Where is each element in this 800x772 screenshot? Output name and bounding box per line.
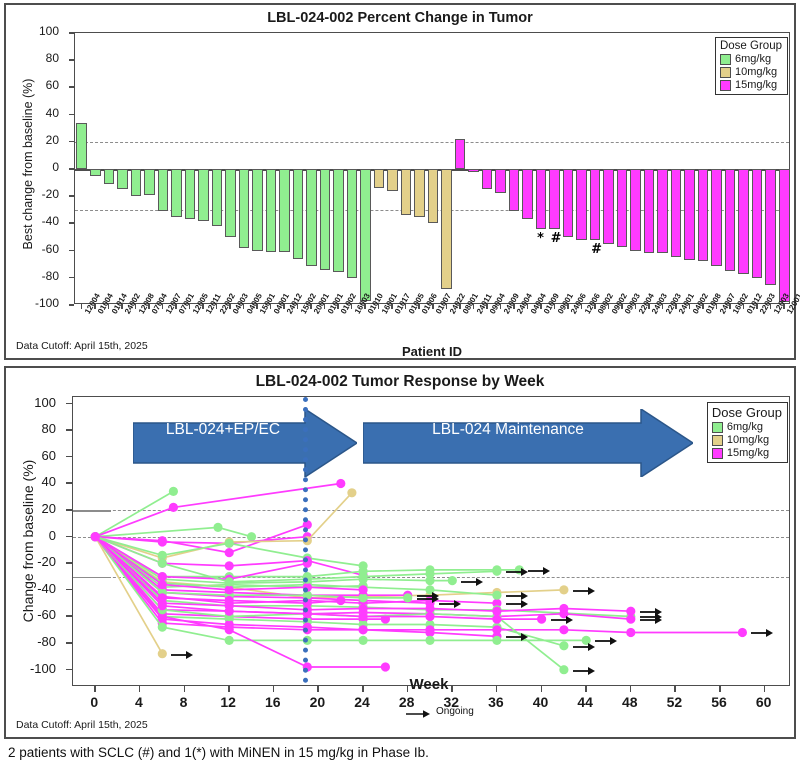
waterfall-bar (266, 169, 277, 252)
waterfall-bar (563, 169, 574, 237)
ongoing-arrow-icon (506, 630, 528, 648)
annotation-symbol-#: # (551, 231, 562, 246)
y-tick-mark (69, 32, 74, 34)
ongoing-arrow-icon (417, 592, 439, 610)
x-tick-mark (702, 304, 704, 309)
data-point-marker (158, 623, 167, 632)
annotation-symbol-*: * (537, 231, 544, 246)
waterfall-bar (293, 169, 304, 259)
y-tick-label: -100 (35, 296, 59, 310)
data-point-marker (359, 636, 368, 645)
waterfall-data-cutoff: Data Cutoff: April 15th, 2025 (16, 340, 148, 352)
ongoing-arrow-icon (506, 589, 528, 607)
waterfall-bar (347, 169, 358, 278)
waterfall-bar (549, 169, 560, 229)
data-point-marker (626, 615, 635, 624)
data-point-marker (492, 615, 501, 624)
reference-line-20 (75, 142, 789, 143)
waterfall-bar (252, 169, 263, 251)
data-point-marker (225, 636, 234, 645)
x-tick-label: 60 (748, 694, 780, 710)
x-tick-mark (310, 304, 312, 309)
legend-item-label: 15mg/kg (735, 79, 777, 91)
data-point-marker (559, 585, 568, 594)
legend-swatch-icon (712, 435, 723, 446)
y-tick-mark (69, 277, 74, 279)
data-point-marker (158, 559, 167, 568)
waterfall-bar (576, 169, 587, 240)
data-point-marker (158, 649, 167, 658)
x-tick-mark (743, 304, 745, 309)
waterfall-bar (603, 169, 614, 244)
waterfall-bar (725, 169, 736, 271)
spaghetti-x-axis-label-outer: Week (70, 676, 788, 693)
legend-swatch-icon (712, 448, 723, 459)
data-point-marker (403, 593, 412, 602)
waterfall-bar (185, 169, 196, 219)
data-point-marker (336, 479, 345, 488)
x-tick-mark (81, 304, 83, 309)
ongoing-arrow-icon (751, 626, 773, 644)
x-tick-mark (378, 304, 380, 309)
waterfall-bar (779, 169, 790, 302)
data-point-marker (225, 561, 234, 570)
y-tick-mark (69, 195, 74, 197)
y-tick-label: -40 (37, 581, 56, 596)
x-tick-mark (135, 304, 137, 309)
legend-items: 6mg/kg10mg/kg15mg/kg (720, 53, 782, 91)
waterfall-bar (738, 169, 749, 274)
x-tick-mark (554, 304, 556, 309)
x-tick-label: 56 (703, 694, 735, 710)
y-tick-mark (66, 456, 72, 458)
waterfall-bar (76, 123, 87, 169)
x-tick-label: 8 (168, 694, 200, 710)
x-tick-mark (405, 304, 407, 309)
x-tick-mark (256, 304, 258, 309)
waterfall-bar (212, 169, 223, 226)
y-tick-mark (69, 141, 74, 143)
ongoing-arrow-icon (506, 565, 528, 583)
waterfall-bar (198, 169, 209, 221)
y-tick-label: -80 (37, 634, 56, 649)
legend-swatch-icon (720, 67, 731, 78)
x-tick-mark (594, 304, 596, 309)
waterfall-bar (158, 169, 169, 211)
waterfall-bar (90, 169, 101, 176)
waterfall-bar (455, 139, 466, 169)
legend-swatch-icon (712, 422, 723, 433)
data-point-marker (225, 596, 234, 605)
y-tick-mark (69, 250, 74, 252)
legend-items: 6mg/kg10mg/kg15mg/kg (712, 421, 782, 459)
waterfall-bar (374, 169, 385, 188)
x-tick-mark (446, 304, 448, 309)
waterfall-bar (765, 169, 776, 285)
annotation-symbol-#: # (591, 242, 602, 257)
legend-item-label: 10mg/kg (735, 66, 777, 78)
y-tick-label: -80 (42, 269, 59, 283)
x-tick-mark (567, 304, 569, 309)
ongoing-arrow-icon (573, 640, 595, 658)
ongoing-arrow-icon (551, 613, 573, 631)
phase-arrow-maintenance (363, 409, 693, 477)
x-tick-mark (283, 304, 285, 309)
x-tick-mark (121, 304, 123, 309)
waterfall-bar (306, 169, 317, 266)
x-tick-mark (162, 304, 164, 309)
legend-item-label: 10mg/kg (727, 434, 769, 446)
patient-trend-line (95, 491, 173, 536)
x-tick-mark (770, 304, 772, 309)
data-point-marker (169, 503, 178, 512)
x-tick-mark (175, 304, 177, 309)
waterfall-bar (104, 169, 115, 184)
waterfall-bar (401, 169, 412, 215)
y-tick-label: 100 (34, 395, 56, 410)
x-tick-mark (729, 304, 731, 309)
data-point-marker (559, 665, 568, 674)
data-point-marker (225, 625, 234, 634)
data-point-marker (359, 612, 368, 621)
data-point-marker (158, 551, 167, 560)
ongoing-arrow-icon (528, 564, 550, 582)
legend-item-6mg/kg: 6mg/kg (720, 53, 782, 65)
data-point-marker (492, 567, 501, 576)
y-tick-label: -60 (37, 607, 56, 622)
x-tick-label: 36 (480, 694, 512, 710)
ongoing-arrow-icon (461, 575, 483, 593)
x-tick-mark (324, 304, 326, 309)
x-tick-mark (243, 304, 245, 309)
data-point-marker (359, 572, 368, 581)
y-tick-mark (69, 86, 74, 88)
waterfall-bar (644, 169, 655, 253)
ongoing-legend-arrow-icon (406, 707, 430, 725)
data-point-marker (448, 576, 457, 585)
y-tick-label: 60 (42, 448, 56, 463)
y-tick-label: 60 (46, 78, 59, 92)
waterfall-bar (482, 169, 493, 189)
legend-item-label: 15mg/kg (727, 447, 769, 459)
x-tick-mark (391, 304, 393, 309)
waterfall-bar (630, 169, 641, 251)
x-tick-mark (94, 304, 96, 309)
y-tick-label: -40 (42, 214, 59, 228)
y-tick-mark (66, 509, 72, 511)
x-tick-mark (418, 304, 420, 309)
x-tick-mark (270, 304, 272, 309)
x-tick-mark (202, 304, 204, 309)
phase-arrow-induction-label: LBL-024+EP/EC (133, 421, 313, 439)
waterfall-plot-area: *## (74, 32, 790, 304)
data-point-marker (738, 628, 747, 637)
x-tick-mark (189, 304, 191, 309)
x-tick-label: 0 (78, 694, 110, 710)
y-tick-label: 40 (42, 474, 56, 489)
y-tick-mark (69, 168, 74, 170)
phase-divider-line (303, 397, 308, 683)
data-point-marker (537, 615, 546, 624)
x-tick-mark (648, 304, 650, 309)
waterfall-x-axis-label: Patient ID (74, 344, 790, 359)
x-tick-mark (216, 304, 218, 309)
legend-item-10mg/kg: 10mg/kg (720, 66, 782, 78)
waterfall-bar (144, 169, 155, 195)
x-tick-mark (783, 304, 785, 309)
data-point-marker (381, 662, 390, 671)
legend-item-15mg/kg: 15mg/kg (720, 79, 782, 91)
data-point-marker (225, 577, 234, 586)
waterfall-bar (239, 169, 250, 248)
waterfall-bar (536, 169, 547, 229)
y-tick-mark (69, 59, 74, 61)
legend-swatch-icon (720, 80, 731, 91)
waterfall-bar (414, 169, 425, 217)
data-point-marker (559, 641, 568, 650)
waterfall-bar (441, 169, 452, 289)
spaghetti-y-axis-label: Change from baseline (%) (20, 441, 36, 641)
data-point-marker (158, 536, 167, 545)
phase-arrow-induction (133, 409, 357, 477)
x-tick-mark (689, 304, 691, 309)
legend-title: Dose Group (720, 40, 782, 52)
waterfall-bar (131, 169, 142, 196)
y-tick-mark (66, 536, 72, 538)
waterfall-bar (752, 169, 763, 278)
waterfall-bar (657, 169, 668, 253)
x-tick-mark (581, 304, 583, 309)
waterfall-bar (225, 169, 236, 237)
data-point-marker (425, 636, 434, 645)
ongoing-arrow-icon (439, 597, 461, 615)
y-tick-label: 0 (52, 160, 59, 174)
waterfall-bar (171, 169, 182, 217)
footnote-text: 2 patients with SCLC (#) and 1(*) with M… (8, 745, 429, 760)
x-tick-label: 20 (301, 694, 333, 710)
x-tick-mark (459, 304, 461, 309)
phase-arrow-maintenance-label: LBL-024 Maintenance (373, 421, 643, 439)
y-tick-mark (66, 403, 72, 405)
y-tick-label: -60 (42, 242, 59, 256)
x-tick-mark (108, 304, 110, 309)
waterfall-bar (590, 169, 601, 240)
data-point-marker (492, 636, 501, 645)
legend-item-label: 6mg/kg (735, 53, 771, 65)
data-point-marker (492, 607, 501, 616)
waterfall-bar (617, 169, 628, 247)
x-tick-mark (635, 304, 637, 309)
data-point-marker (158, 601, 167, 610)
y-tick-mark (66, 562, 72, 564)
x-tick-label: 48 (614, 694, 646, 710)
data-point-marker (425, 569, 434, 578)
waterfall-bar (387, 169, 398, 191)
x-tick-mark (716, 304, 718, 309)
waterfall-bar (698, 169, 709, 261)
data-point-marker (225, 585, 234, 594)
x-tick-mark (473, 304, 475, 309)
y-tick-mark (66, 642, 72, 644)
x-tick-mark (621, 304, 623, 309)
data-point-marker (359, 604, 368, 613)
data-point-marker (213, 523, 222, 532)
x-tick-mark (364, 304, 366, 309)
ongoing-arrow-icon (171, 648, 193, 666)
ongoing-arrow-icon (595, 634, 617, 652)
waterfall-bar (333, 169, 344, 272)
ongoing-arrow-icon (573, 584, 595, 602)
x-tick-label: 24 (346, 694, 378, 710)
y-tick-mark (66, 429, 72, 431)
x-tick-mark (297, 304, 299, 309)
data-point-marker (425, 612, 434, 621)
y-tick-label: 0 (49, 528, 56, 543)
spaghetti-plot-area: LBL-024+EP/EC LBL-024 Maintenance (72, 396, 790, 686)
data-point-marker (158, 580, 167, 589)
x-tick-mark (756, 304, 758, 309)
y-tick-mark (69, 114, 74, 116)
waterfall-chart-panel: LBL-024-002 Percent Change in Tumor Best… (4, 3, 796, 360)
y-tick-label: 40 (46, 106, 59, 120)
data-point-marker (359, 625, 368, 634)
legend-item-10mg/kg: 10mg/kg (712, 434, 782, 446)
y-tick-label: -20 (37, 554, 56, 569)
y-tick-label: -100 (30, 661, 56, 676)
data-point-marker (169, 487, 178, 496)
waterfall-bar (117, 169, 128, 189)
x-tick-mark (675, 304, 677, 309)
ongoing-arrow-icon (640, 605, 662, 623)
waterfall-bar (684, 169, 695, 260)
x-tick-mark (229, 304, 231, 309)
waterfall-chart-title: LBL-024-002 Percent Change in Tumor (6, 10, 794, 26)
legend-swatch-icon (720, 54, 731, 65)
spaghetti-chart-title: LBL-024-002 Tumor Response by Week (6, 373, 794, 391)
data-point-marker (626, 607, 635, 616)
waterfall-bar (711, 169, 722, 266)
waterfall-y-axis-label: Best change from baseline (%) (21, 64, 35, 264)
data-point-marker (359, 585, 368, 594)
x-tick-mark (486, 304, 488, 309)
y-tick-label: 20 (46, 133, 59, 147)
legend-item-15mg/kg: 15mg/kg (712, 447, 782, 459)
y-tick-label: 100 (39, 24, 59, 38)
data-point-marker (359, 593, 368, 602)
legend-title: Dose Group (712, 405, 782, 420)
data-point-marker (336, 596, 345, 605)
waterfall-bar (671, 169, 682, 257)
x-tick-label: 4 (123, 694, 155, 710)
x-tick-mark (540, 304, 542, 309)
y-tick-mark (66, 615, 72, 617)
spaghetti-data-cutoff: Data Cutoff: April 15th, 2025 (16, 719, 148, 731)
x-tick-mark (351, 304, 353, 309)
data-point-marker (559, 604, 568, 613)
x-tick-label: 16 (257, 694, 289, 710)
x-tick-mark (337, 304, 339, 309)
x-tick-mark (148, 304, 150, 309)
legend-item-6mg/kg: 6mg/kg (712, 421, 782, 433)
waterfall-bar (360, 169, 371, 301)
waterfall-bar (320, 169, 331, 270)
y-tick-mark (69, 222, 74, 224)
x-tick-mark (500, 304, 502, 309)
waterfall-bar (468, 169, 479, 172)
waterfall-bar (279, 169, 290, 252)
y-tick-mark (69, 304, 74, 306)
data-point-marker (158, 593, 167, 602)
data-point-marker (425, 628, 434, 637)
data-point-marker (91, 532, 100, 541)
x-tick-mark (432, 304, 434, 309)
data-point-marker (158, 572, 167, 581)
x-tick-mark (527, 304, 529, 309)
x-tick-label: 44 (569, 694, 601, 710)
x-tick-label: 12 (212, 694, 244, 710)
x-tick-mark (513, 304, 515, 309)
y-tick-label: 80 (46, 51, 59, 65)
waterfall-legend: Dose Group 6mg/kg10mg/kg15mg/kg (715, 37, 788, 95)
waterfall-bar (428, 169, 439, 223)
data-point-marker (626, 628, 635, 637)
y-tick-mark (66, 482, 72, 484)
ongoing-legend-label: Ongoing (436, 706, 474, 717)
y-tick-label: 20 (42, 501, 56, 516)
data-point-marker (225, 607, 234, 616)
x-tick-mark (662, 304, 664, 309)
data-point-marker (492, 591, 501, 600)
legend-item-label: 6mg/kg (727, 421, 763, 433)
x-tick-mark (608, 304, 610, 309)
y-tick-label: 80 (42, 421, 56, 436)
data-point-marker (247, 532, 256, 541)
y-tick-mark (66, 669, 72, 671)
waterfall-bar (495, 169, 506, 193)
x-tick-label: 52 (658, 694, 690, 710)
waterfall-bar (522, 169, 533, 219)
y-tick-mark (66, 589, 72, 591)
patient-trend-line (95, 537, 307, 544)
y-tick-label: -20 (42, 187, 59, 201)
spaghetti-legend: Dose Group 6mg/kg10mg/kg15mg/kg (707, 402, 788, 463)
data-point-marker (225, 548, 234, 557)
data-point-marker (347, 488, 356, 497)
x-tick-label: 40 (525, 694, 557, 710)
data-point-marker (225, 539, 234, 548)
waterfall-bar (509, 169, 520, 211)
